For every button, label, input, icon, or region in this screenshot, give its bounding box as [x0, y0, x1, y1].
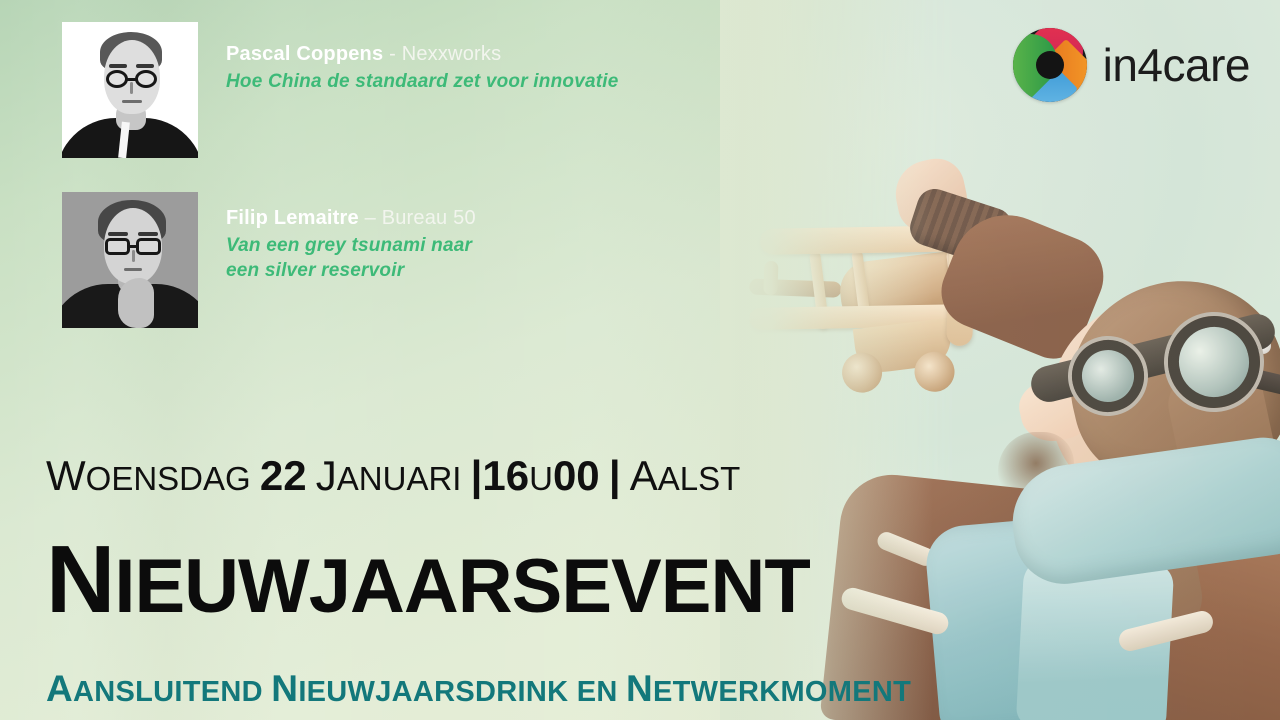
portrait-glasses-lens	[106, 70, 128, 88]
subtitle-w4-cap: N	[626, 668, 653, 709]
dateline-date-number: 22	[260, 452, 307, 499]
dateline-city-lead: A	[630, 452, 658, 499]
speaker-text-pascal-coppens: Pascal Coppens - Nexxworks Hoe China de …	[226, 22, 619, 95]
dateline-month-rest: ANUARI	[337, 460, 462, 497]
dateline-day-rest: OENSDAG	[86, 460, 251, 497]
dateline-separator-right: |	[609, 452, 621, 499]
speaker-separator: –	[359, 207, 382, 229]
portrait-glasses-lens	[135, 70, 157, 88]
event-dateline: WOENSDAG 22 JANUARI |16U00 | AALST	[46, 452, 740, 500]
portrait-glasses-lens	[136, 238, 161, 255]
speaker-block-filip-lemaitre: Filip Lemaitre – Bureau 50 Van een grey …	[62, 192, 476, 328]
portrait-filip-lemaitre	[62, 192, 198, 328]
dateline-day-lead: W	[46, 452, 86, 499]
portrait-glasses-bridge	[129, 245, 137, 248]
speaker-separator: -	[383, 43, 401, 65]
portrait-brow	[108, 232, 128, 236]
in4care-pinwheel-icon	[1013, 28, 1087, 102]
event-poster: in4care Pascal Coppens - Nexxworks Hoe C…	[0, 0, 1280, 720]
subtitle-w2-cap: N	[271, 668, 298, 709]
subtitle-w3: EN	[577, 676, 618, 708]
dateline-time: 16	[482, 452, 529, 499]
dateline-time-unit: U	[529, 460, 553, 497]
speaker-organisation: Nexxworks	[402, 43, 502, 65]
page-title: NIEUWJAARSEVENT	[46, 532, 810, 628]
speaker-name: Filip Lemaitre	[226, 207, 359, 229]
portrait-brow	[138, 232, 158, 236]
speaker-block-pascal-coppens: Pascal Coppens - Nexxworks Hoe China de …	[62, 22, 619, 158]
subtitle-w1-rest: ANSLUITEND	[73, 676, 263, 708]
speaker-text-filip-lemaitre: Filip Lemaitre – Bureau 50 Van een grey …	[226, 192, 476, 283]
subtitle-w4-rest: ETWERKMOMENT	[653, 676, 911, 708]
speaker-name: Pascal Coppens	[226, 43, 383, 65]
portrait-nose	[130, 82, 133, 94]
speaker-organisation: Bureau 50	[382, 207, 476, 229]
title-rest: IEUWJAARSEVENT	[114, 544, 809, 629]
portrait-nose	[132, 250, 135, 262]
portrait-brow	[136, 64, 154, 68]
in4care-logo[interactable]: in4care	[1013, 28, 1250, 102]
portrait-glasses-lens	[105, 238, 130, 255]
logo-wordmark: in4care	[1103, 38, 1250, 92]
portrait-mouth	[122, 100, 142, 103]
page-subtitle: AANSLUITEND NIEUWJAARSDRINK EN NETWERKMO…	[46, 668, 911, 710]
logo-core	[1036, 51, 1064, 79]
portrait-hand	[118, 278, 154, 328]
speaker-topic: Hoe China de standaard zet voor innovati…	[226, 70, 619, 95]
portrait-mouth	[124, 268, 142, 271]
speaker-topic-line1: Van een grey tsunami naar	[226, 235, 472, 256]
dateline-month-lead: J	[316, 452, 337, 499]
portrait-brow	[109, 64, 127, 68]
speaker-topic: Van een grey tsunami naar een silver res…	[226, 234, 476, 283]
dateline-separator-left: |	[471, 452, 483, 499]
dateline-city-rest: ALST	[658, 460, 741, 497]
dateline-time-minutes: 00	[553, 452, 600, 499]
subtitle-w2-rest: IEUWJAARSDRINK	[298, 676, 568, 708]
plane-fin	[763, 261, 778, 295]
portrait-pascal-coppens	[62, 22, 198, 158]
speaker-name-line: Filip Lemaitre – Bureau 50	[226, 206, 476, 231]
speaker-topic-line2: een silver reservoir	[226, 260, 404, 281]
title-cap: N	[46, 526, 114, 633]
speaker-name-line: Pascal Coppens - Nexxworks	[226, 42, 619, 67]
portrait-glasses-bridge	[127, 78, 136, 81]
subtitle-w1-cap: A	[46, 668, 73, 709]
